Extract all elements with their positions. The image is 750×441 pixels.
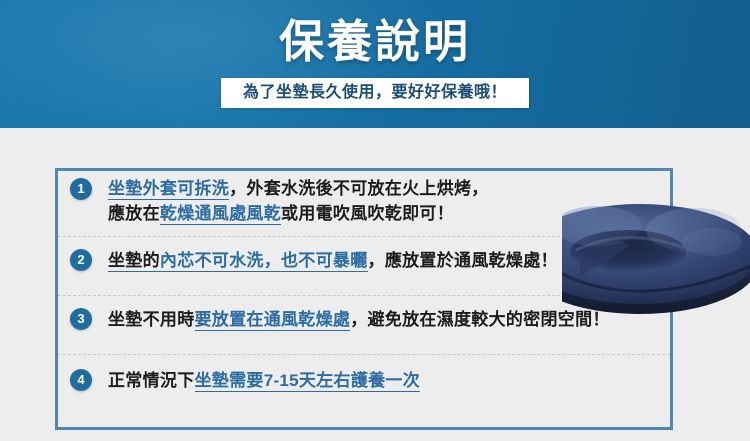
header-banner: 保養說明 為了坐墊長久使用，要好好保養哦！	[0, 0, 750, 128]
item-text-line: 坐墊不用時要放置在通風乾燥處，避免放在濕度較大的密閉空間！	[108, 307, 670, 332]
plain-text: 或用電吹風吹乾即可！	[281, 204, 454, 223]
item-number-badge: 1	[70, 178, 92, 200]
instruction-list: 1 坐墊外套可拆洗，外套水洗後不可放在火上烘烤， 應放在乾燥通風處風乾或用電吹風…	[58, 168, 670, 415]
plain-text: ，避免放在濕度較大的密閉空間！	[350, 310, 610, 329]
list-item: 1 坐墊外套可拆洗，外套水洗後不可放在火上烘烤， 應放在乾燥通風處風乾或用電吹風…	[58, 168, 670, 237]
list-item: 2 坐墊的內芯不可水洗，也不可暴曬，應放置於通風乾燥處！	[58, 237, 670, 296]
plain-text: 正常情況下	[108, 371, 195, 390]
list-item: 4 正常情況下坐墊需要7-15天左右護養一次	[58, 355, 670, 415]
list-item: 3 坐墊不用時要放置在通風乾燥處，避免放在濕度較大的密閉空間！	[58, 296, 670, 355]
highlight-text: 坐墊需要7-15天左右護養一次	[195, 371, 421, 392]
item-text-line: 正常情況下坐墊需要7-15天左右護養一次	[108, 368, 670, 393]
item-number-badge: 2	[70, 249, 92, 271]
item-number-badge: 3	[70, 308, 92, 330]
header-subtitle: 為了坐墊長久使用，要好好保養哦！	[221, 78, 529, 108]
subtitle-container: 為了坐墊長久使用，要好好保養哦！	[0, 78, 750, 108]
highlight-text: 內芯不可水洗，也不可暴曬	[160, 251, 368, 272]
maintenance-instructions-page: 保養說明 為了坐墊長久使用，要好好保養哦！ 1 坐墊外套可拆洗，外套水洗後不可放…	[0, 0, 750, 441]
plain-text: 應放在	[108, 204, 160, 223]
plain-underline-text: 坐墊的	[108, 251, 160, 272]
plain-text: ，應放置於通風乾燥處！	[368, 251, 558, 270]
item-number-badge: 4	[70, 369, 92, 391]
highlight-text: 坐墊外套可拆洗	[108, 179, 229, 200]
plain-text: 坐墊不用時	[108, 310, 195, 329]
highlight-text: 乾燥通風處風乾	[160, 204, 281, 225]
page-title: 保養說明	[0, 15, 750, 69]
item-text-line: 坐墊外套可拆洗，外套水洗後不可放在火上烘烤，	[108, 176, 670, 201]
item-text-line: 應放在乾燥通風處風乾或用電吹風吹乾即可！	[108, 201, 670, 226]
item-text-line: 坐墊的內芯不可水洗，也不可暴曬，應放置於通風乾燥處！	[108, 248, 670, 273]
highlight-text: 要放置在通風乾燥處	[195, 310, 351, 331]
plain-text: ，外套水洗後不可放在火上烘烤，	[229, 179, 489, 198]
